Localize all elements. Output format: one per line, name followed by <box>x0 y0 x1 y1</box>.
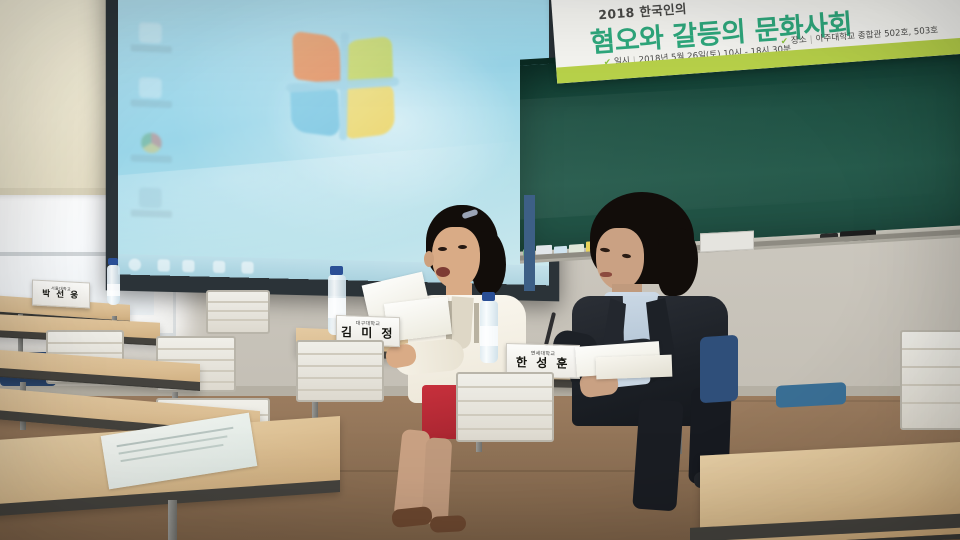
nameplate-name: 한 성 훈 <box>516 356 570 371</box>
app-window-icon[interactable] <box>241 261 253 273</box>
nameplate: 서울대학교 박 선 웅 <box>32 279 90 308</box>
media-player-icon[interactable] <box>182 260 194 272</box>
windows-pane-yellow <box>344 84 395 140</box>
mouth <box>436 267 450 277</box>
computer-icon[interactable] <box>131 0 172 8</box>
browser-icon[interactable] <box>213 261 225 273</box>
eye <box>438 247 447 251</box>
nameplate-name: 김 미 정 <box>341 326 395 341</box>
banner-separator: | <box>809 35 813 45</box>
seminar-room-photo: 2018 한국인의 혐오와 갈등의 문화사회 ✔일시|2018년 5월 26일(… <box>0 0 960 540</box>
chair[interactable] <box>900 330 960 426</box>
nameplate-name: 박 선 웅 <box>42 290 79 301</box>
windows-pane-red <box>292 31 341 85</box>
ear <box>424 251 434 267</box>
eye <box>458 245 467 249</box>
chair[interactable] <box>206 290 266 330</box>
chair[interactable] <box>296 340 380 398</box>
desk-leg <box>168 500 177 540</box>
folder-icon[interactable] <box>131 20 172 63</box>
document[interactable] <box>596 355 673 380</box>
lanyard <box>474 303 479 343</box>
hair-side <box>658 228 698 296</box>
start-orb-icon[interactable] <box>129 258 141 271</box>
desktop-icon-column <box>131 0 174 241</box>
banner-venue-label: 장소 <box>791 35 808 46</box>
explorer-icon[interactable] <box>158 259 170 272</box>
chrome-icon[interactable] <box>131 130 172 172</box>
chair[interactable] <box>700 335 738 404</box>
document-icon[interactable] <box>131 75 172 117</box>
chair[interactable] <box>776 382 846 408</box>
chair[interactable] <box>456 372 550 438</box>
recycle-bin-icon[interactable] <box>131 185 172 227</box>
face <box>432 227 480 289</box>
face <box>596 228 644 290</box>
trousers <box>632 399 684 512</box>
check-icon: ✔ <box>780 37 788 48</box>
windows-logo-icon <box>288 33 399 138</box>
mouth <box>600 272 612 277</box>
shoe <box>430 515 467 533</box>
